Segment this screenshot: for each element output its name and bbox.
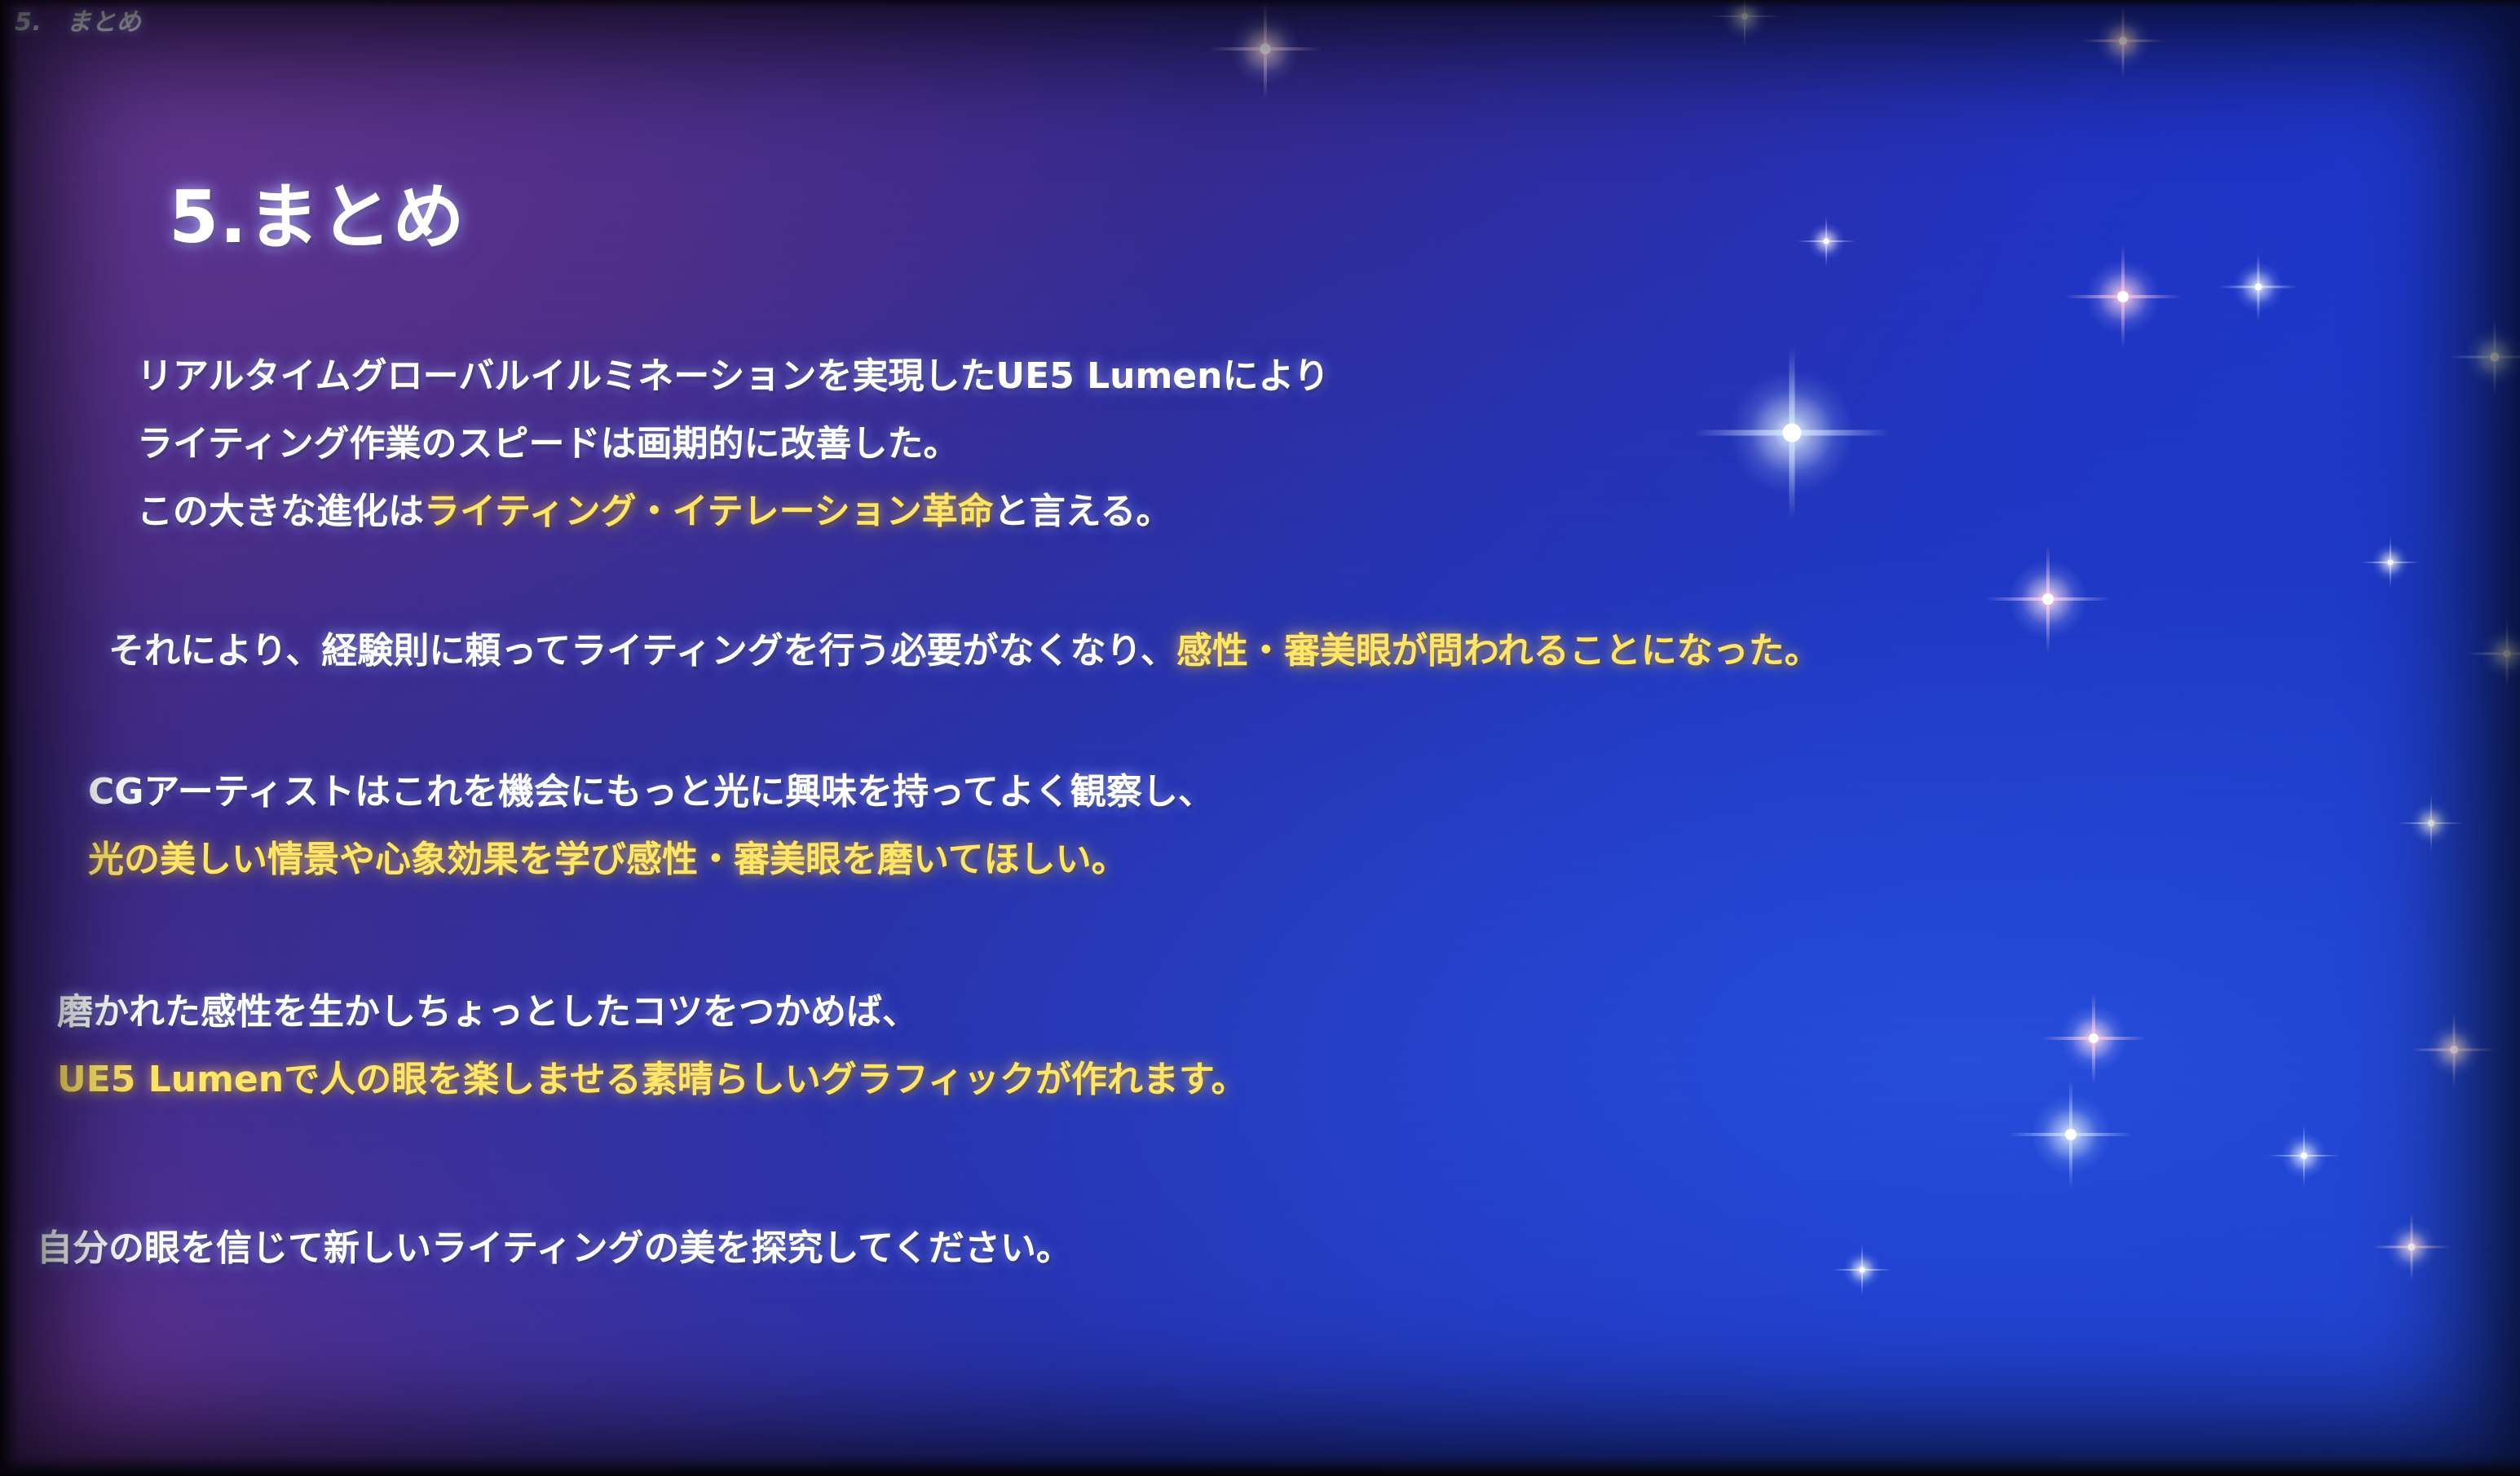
sparkle-icon bbox=[2449, 311, 2520, 403]
sparkle-icon bbox=[1797, 212, 1856, 271]
paragraph-3: CGアーティストはこれを機会にもっと光に興味を持ってよく観察し、光の美しい情景や… bbox=[88, 774, 1214, 878]
highlighted-text-run: 光の美しい情景や心象効果を学び感性・審美眼を磨いてほしい。 bbox=[88, 839, 1128, 880]
text-line: この大きな進化はライティング・イテレーション革命と言える。 bbox=[137, 494, 1330, 530]
text-line: ライティング作業のスピードは画期的に改善した。 bbox=[137, 426, 1330, 462]
text-line: UE5 Lumenで人の眼を楽しませる素晴らしいグラフィックが作れます。 bbox=[57, 1062, 1247, 1098]
text-run: 磨かれた感性を生かしちょっとしたコツをつかめば、 bbox=[57, 991, 918, 1033]
text-run: 自分の眼を信じて新しいライティングの美を探究してください。 bbox=[37, 1227, 1072, 1269]
sparkle-icon bbox=[1210, 0, 1321, 104]
sparkle-icon bbox=[2041, 986, 2146, 1090]
text-run: それにより、経験則に頼ってライティングを行う必要がなくなり、 bbox=[108, 630, 1176, 672]
sparkle-icon bbox=[1833, 1240, 1891, 1299]
sparkle-icon bbox=[2468, 615, 2520, 693]
projection-edge-left bbox=[0, 0, 18, 1476]
projection-edge-bottom bbox=[0, 1456, 2520, 1476]
sparkle-icon bbox=[2268, 1120, 2340, 1192]
sparkle-icon bbox=[2219, 248, 2297, 326]
text-line: リアルタイムグローバルイルミネーションを実現したUE5 Lumenにより bbox=[137, 359, 1330, 394]
projection-edge-top bbox=[0, 0, 2520, 8]
sparkle-icon bbox=[2372, 1208, 2451, 1286]
text-run: この大きな進化は bbox=[137, 491, 424, 532]
sparkle-icon bbox=[1986, 537, 2110, 661]
highlighted-text-run: UE5 Lumenで人の眼を楽しませる素晴らしいグラフィックが作れます。 bbox=[57, 1059, 1247, 1100]
text-line: 光の美しい情景や心象効果を学び感性・審美眼を磨いてほしい。 bbox=[88, 842, 1214, 878]
sparkle-icon bbox=[2361, 533, 2420, 592]
text-line: それにより、経験則に頼ってライティングを行う必要がなくなり、感性・審美眼が問われ… bbox=[108, 633, 1820, 669]
paragraph-2: それにより、経験則に頼ってライティングを行う必要がなくなり、感性・審美眼が問われ… bbox=[108, 633, 1820, 669]
text-run: CGアーティストはこれを機会にもっと光に興味を持ってよく観察し、 bbox=[88, 771, 1214, 813]
sparkle-icon bbox=[1694, 335, 1890, 531]
sparkle-icon bbox=[2081, 0, 2165, 83]
sparkle-icon bbox=[2064, 238, 2182, 355]
presentation-slide: 5. まとめ 5.まとめ リアルタイムグローバルイルミネーションを実現したUE5… bbox=[0, 0, 2520, 1476]
text-line: 磨かれた感性を生かしちょっとしたコツをつかめば、 bbox=[57, 994, 1247, 1030]
paragraph-1: リアルタイムグローバルイルミネーションを実現したUE5 Lumenによりライティ… bbox=[137, 359, 1330, 530]
sparkle-icon bbox=[2412, 1007, 2496, 1092]
text-run: と言える。 bbox=[994, 491, 1172, 532]
paragraph-4: 磨かれた感性を生かしちょっとしたコツをつかめば、UE5 Lumenで人の眼を楽し… bbox=[57, 994, 1247, 1098]
slide-title: 5.まとめ bbox=[169, 160, 466, 263]
text-line: 自分の眼を信じて新しいライティングの美を探究してください。 bbox=[37, 1231, 1072, 1267]
text-run: ライティング作業のスピードは画期的に改善した。 bbox=[137, 423, 959, 465]
paragraph-5: 自分の眼を信じて新しいライティングの美を探究してください。 bbox=[37, 1231, 1072, 1267]
sparkle-icon bbox=[2009, 1073, 2133, 1196]
text-run: リアルタイムグローバルイルミネーションを実現したUE5 Lumenにより bbox=[137, 355, 1330, 397]
highlighted-text-run: ライティング・イテレーション革命 bbox=[424, 491, 994, 532]
text-line: CGアーティストはこれを機会にもっと光に興味を持ってよく観察し、 bbox=[88, 774, 1214, 810]
highlighted-text-run: 感性・審美眼が問われることになった。 bbox=[1176, 630, 1820, 672]
sparkle-icon bbox=[2399, 791, 2464, 856]
